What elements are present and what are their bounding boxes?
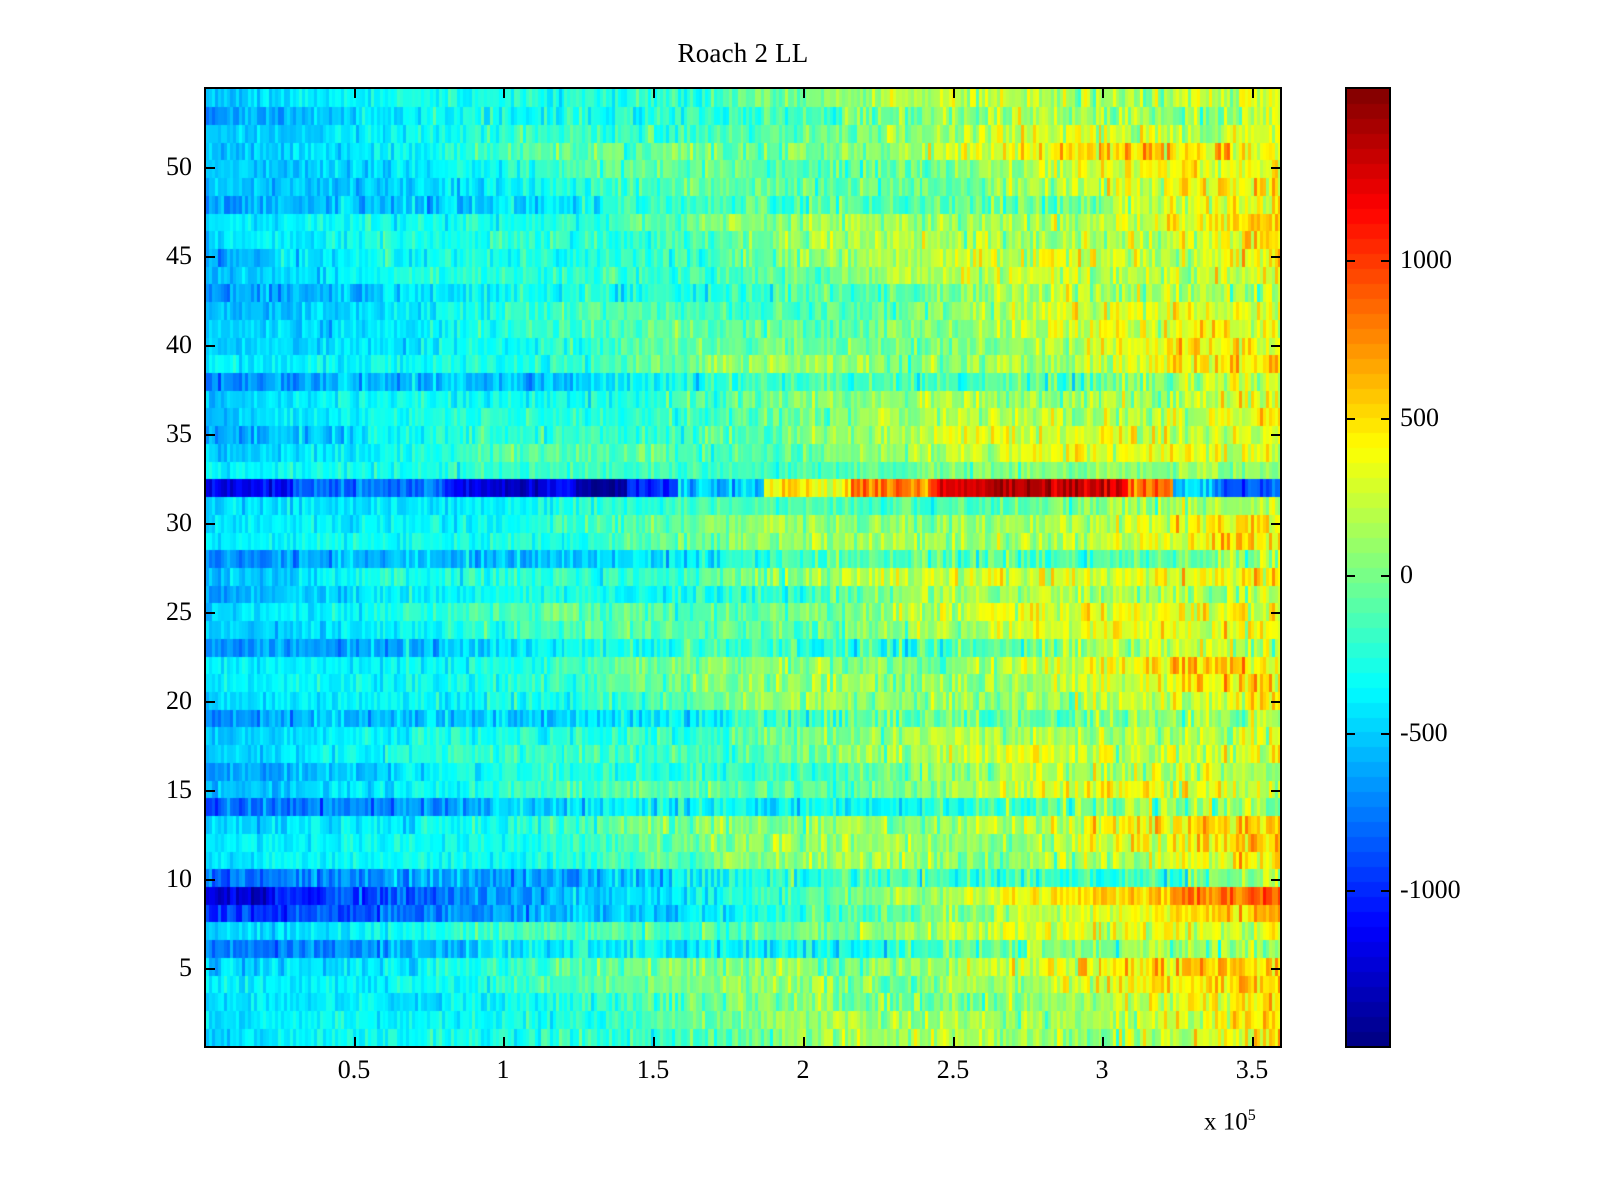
x-axis-tick — [653, 1037, 655, 1048]
x-axis-tick-top — [354, 87, 356, 98]
y-axis-tick — [204, 879, 215, 881]
y-axis-tick — [204, 701, 215, 703]
x-axis-tick-top — [503, 87, 505, 98]
y-axis-tick-right — [1271, 612, 1282, 614]
y-axis-tick-right — [1271, 167, 1282, 169]
x-axis-tick — [1252, 1037, 1254, 1048]
colorbar-tick-label: 0 — [1400, 562, 1413, 588]
heatmap-plot-area[interactable] — [204, 87, 1282, 1048]
colorbar-tick — [1345, 575, 1355, 577]
x-axis-tick — [354, 1037, 356, 1048]
y-axis-tick-label: 30 — [122, 510, 192, 536]
x-axis-tick-label: 2 — [758, 1055, 848, 1085]
colorbar-tick — [1345, 733, 1355, 735]
y-axis-tick-right — [1271, 701, 1282, 703]
colorbar-gradient — [1347, 89, 1389, 1046]
figure-canvas: Roach 2 LL 51015202530354045500.511.522.… — [0, 0, 1600, 1200]
x-axis-tick-label: 3 — [1057, 1055, 1147, 1085]
y-axis-tick — [204, 256, 215, 258]
x-axis-tick — [953, 1037, 955, 1048]
y-axis-tick-label: 45 — [122, 243, 192, 269]
y-axis-tick-right — [1271, 523, 1282, 525]
x-axis-tick — [803, 1037, 805, 1048]
y-axis-tick-label: 40 — [122, 332, 192, 358]
y-axis-tick-right — [1271, 256, 1282, 258]
colorbar-tick — [1345, 890, 1355, 892]
y-axis-tick-right — [1271, 879, 1282, 881]
colorbar-tick-label: -500 — [1400, 720, 1448, 746]
colorbar-tick-label: 1000 — [1400, 247, 1452, 273]
y-axis-tick-label: 20 — [122, 688, 192, 714]
x-axis-tick-label: 2.5 — [908, 1055, 998, 1085]
x-axis-tick-top — [803, 87, 805, 98]
y-axis-tick — [204, 612, 215, 614]
y-axis-tick-label: 15 — [122, 777, 192, 803]
y-axis-tick — [204, 434, 215, 436]
y-axis-tick — [204, 345, 215, 347]
x-axis-tick — [1102, 1037, 1104, 1048]
y-axis-tick-label: 10 — [122, 866, 192, 892]
y-axis-tick-right — [1271, 434, 1282, 436]
y-axis-tick-right — [1271, 345, 1282, 347]
x-axis-tick-top — [653, 87, 655, 98]
y-axis-tick-right — [1271, 968, 1282, 970]
y-axis-tick — [204, 790, 215, 792]
y-axis-tick — [204, 167, 215, 169]
y-axis-tick-label: 25 — [122, 599, 192, 625]
x-axis-tick — [503, 1037, 505, 1048]
x-axis-tick-top — [1252, 87, 1254, 98]
colorbar-tick-label: -1000 — [1400, 877, 1461, 903]
colorbar-tick-right — [1381, 418, 1391, 420]
y-axis-tick-right — [1271, 790, 1282, 792]
x-axis-tick-top — [953, 87, 955, 98]
x-exponent-power: 5 — [1248, 1107, 1256, 1124]
y-axis-tick — [204, 523, 215, 525]
y-axis-tick — [204, 968, 215, 970]
x-exponent-base: x 10 — [1204, 1108, 1248, 1135]
y-axis-tick-label: 5 — [122, 955, 192, 981]
x-axis-tick-label: 1 — [458, 1055, 548, 1085]
colorbar-tick-right — [1381, 733, 1391, 735]
colorbar-tick-label: 500 — [1400, 405, 1439, 431]
x-axis-tick-label: 0.5 — [309, 1055, 399, 1085]
page-title: Roach 2 LL — [204, 38, 1282, 68]
y-axis-tick-label: 35 — [122, 421, 192, 447]
x-axis-tick-top — [1102, 87, 1104, 98]
colorbar-tick-right — [1381, 890, 1391, 892]
x-axis-tick-label: 1.5 — [608, 1055, 698, 1085]
colorbar-tick — [1345, 260, 1355, 262]
y-axis-tick-label: 50 — [122, 154, 192, 180]
colorbar-tick-right — [1381, 575, 1391, 577]
colorbar-tick — [1345, 418, 1355, 420]
colorbar[interactable] — [1345, 87, 1391, 1048]
heatmap-image — [206, 89, 1280, 1046]
colorbar-tick-right — [1381, 260, 1391, 262]
x-axis-exponent-label: x 105 — [1204, 1102, 1256, 1136]
x-axis-tick-label: 3.5 — [1207, 1055, 1297, 1085]
